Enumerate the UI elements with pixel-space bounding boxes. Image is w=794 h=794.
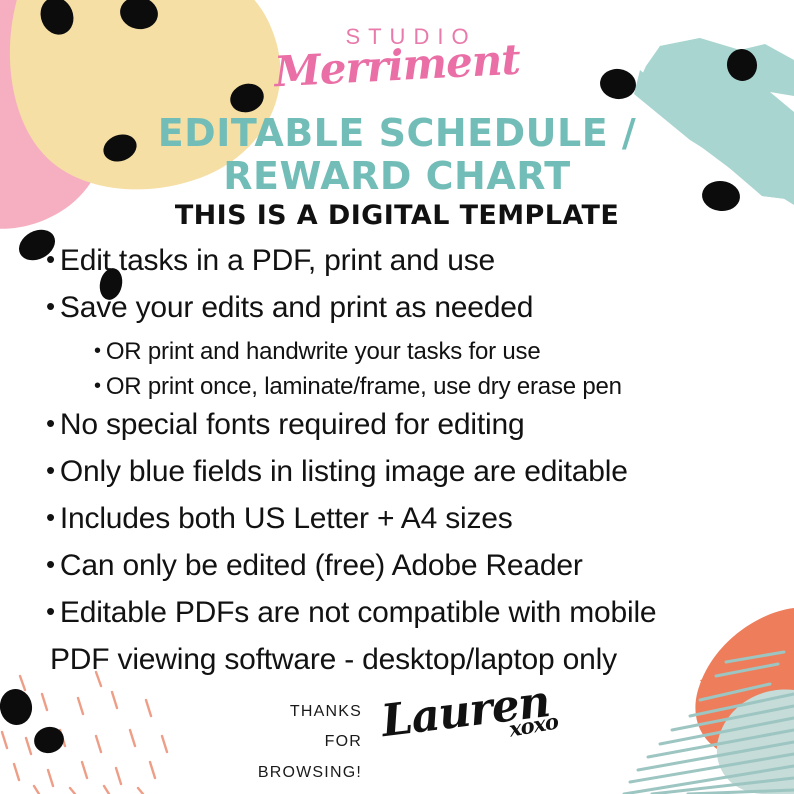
poster-canvas: STUDIO Merriment EDITABLE SCHEDULE / REW… xyxy=(0,0,794,794)
thanks-text: THANKS FOR BROWSING! xyxy=(252,697,362,788)
page-title: EDITABLE SCHEDULE / REWARD CHART xyxy=(0,112,794,197)
bullet-icon: • xyxy=(46,596,55,626)
list-item: •Save your edits and print as needed xyxy=(46,293,752,323)
list-item-text: OR print once, laminate/frame, use dry e… xyxy=(106,373,622,400)
bullet-icon: • xyxy=(46,291,55,321)
list-item-text: PDF viewing software - desktop/laptop on… xyxy=(50,643,617,676)
list-item: •Includes both US Letter + A4 sizes xyxy=(46,504,752,534)
bullet-icon: • xyxy=(94,375,101,397)
list-item-text: No special fonts required for editing xyxy=(60,408,525,441)
list-item: •Edit tasks in a PDF, print and use xyxy=(46,246,752,276)
thanks-line-2: BROWSING! xyxy=(252,758,362,788)
bullet-icon: • xyxy=(46,455,55,485)
list-item: •OR print once, laminate/frame, use dry … xyxy=(94,375,752,399)
list-item-text: Editable PDFs are not compatible with mo… xyxy=(60,596,657,629)
list-item: •Can only be edited (free) Adobe Reader xyxy=(46,551,752,581)
list-item-continuation: PDF viewing software - desktop/laptop on… xyxy=(46,645,752,675)
list-item: •No special fonts required for editing xyxy=(46,410,752,440)
list-item: •OR print and handwrite your tasks for u… xyxy=(94,340,752,364)
list-item-text: OR print and handwrite your tasks for us… xyxy=(106,338,541,365)
bullet-icon: • xyxy=(94,340,101,362)
list-item: •Editable PDFs are not compatible with m… xyxy=(46,598,752,628)
page-subtitle: THIS IS A DIGITAL TEMPLATE xyxy=(0,200,794,231)
poster-content: STUDIO Merriment EDITABLE SCHEDULE / REW… xyxy=(0,0,794,794)
bullet-icon: • xyxy=(46,502,55,532)
page-title-line1: EDITABLE SCHEDULE / xyxy=(158,111,637,155)
list-item-text: Can only be edited (free) Adobe Reader xyxy=(60,549,583,582)
feature-bullet-list: •Edit tasks in a PDF, print and use •Sav… xyxy=(46,246,752,692)
list-item-text: Includes both US Letter + A4 sizes xyxy=(60,502,513,535)
page-title-line2: REWARD CHART xyxy=(0,155,794,198)
list-item-text: Only blue fields in listing image are ed… xyxy=(60,455,628,488)
list-item: •Only blue fields in listing image are e… xyxy=(46,457,752,487)
thanks-line-1: THANKS FOR xyxy=(252,697,362,758)
bullet-icon: • xyxy=(46,408,55,438)
brand-logo: STUDIO Merriment xyxy=(0,26,794,88)
bullet-icon: • xyxy=(46,244,55,274)
list-item-text: Save your edits and print as needed xyxy=(60,291,533,324)
bullet-icon: • xyxy=(46,549,55,579)
list-item-text: Edit tasks in a PDF, print and use xyxy=(60,244,495,277)
